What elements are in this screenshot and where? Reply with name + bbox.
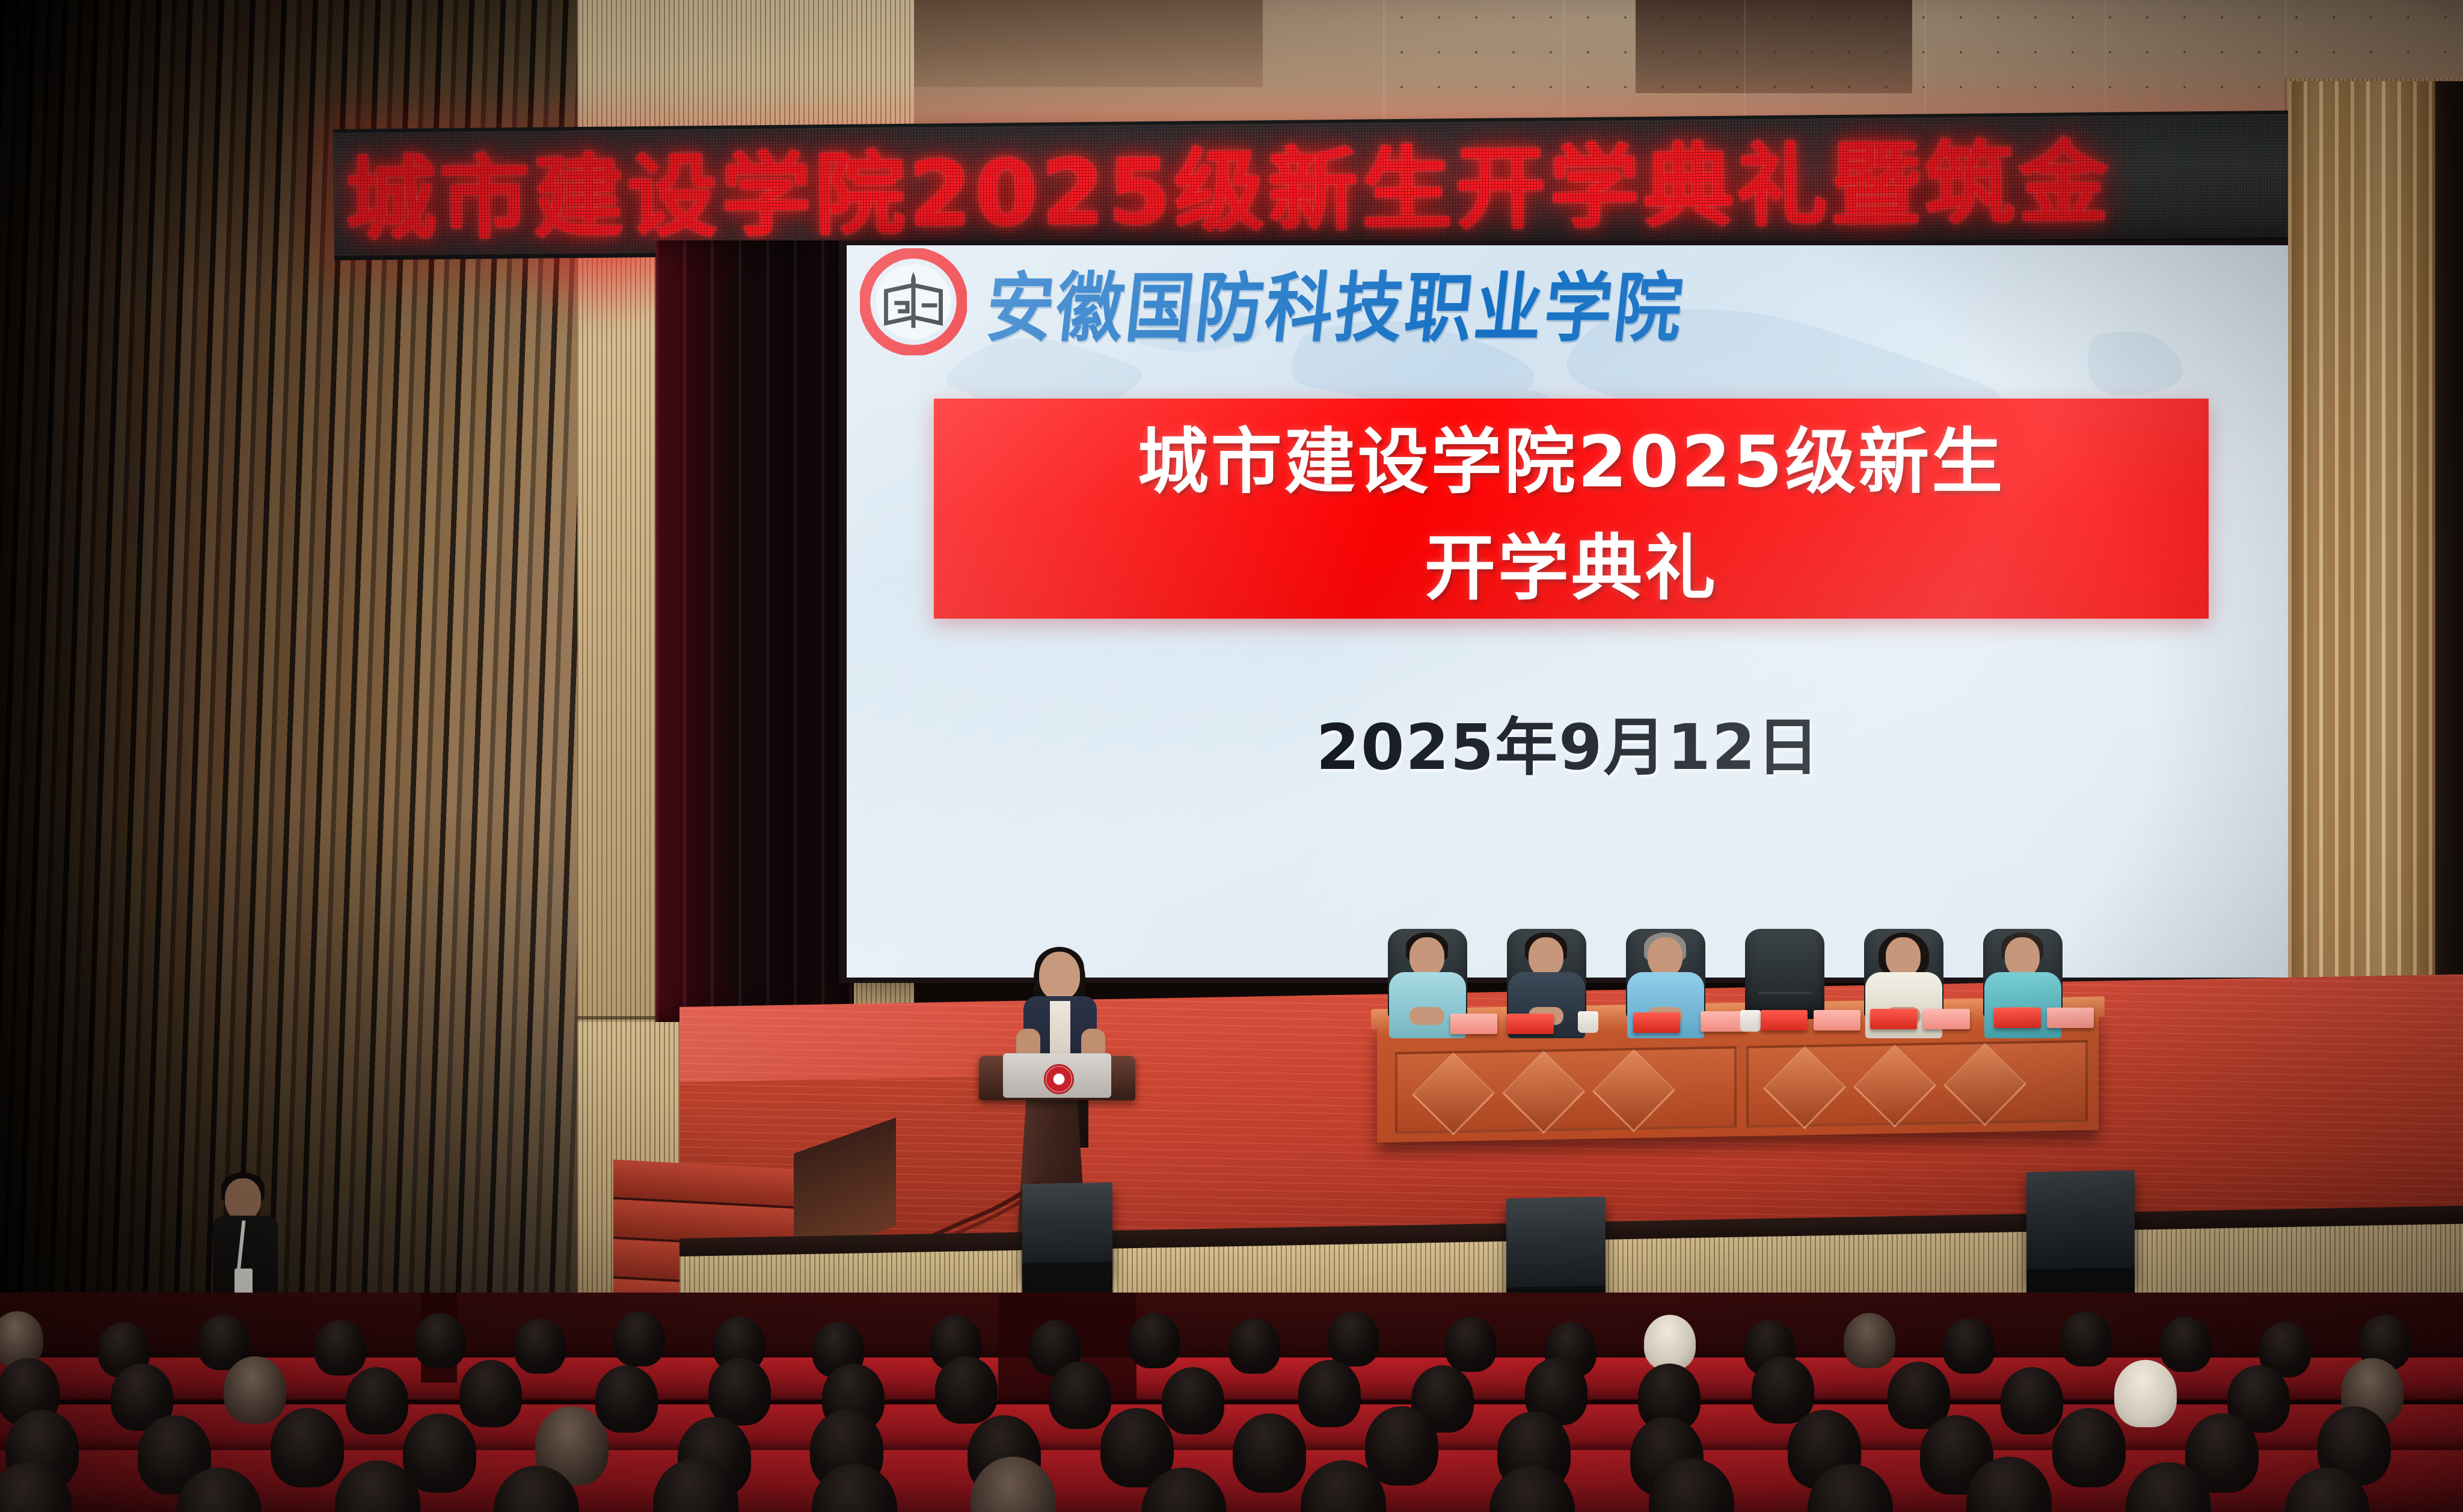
audience-person <box>1844 1313 1895 1368</box>
name-card-6 <box>1814 1010 1860 1030</box>
screen-title-line1: 城市建设学院2025级新生 <box>1138 404 2005 507</box>
audience-person <box>2160 1317 2212 1372</box>
name-card-7 <box>1870 1009 1917 1029</box>
name-card-9 <box>1994 1008 2041 1028</box>
projection-screen: 安徽国防科技职业学院 城市建设学院2025级新生 开学典礼 2025年9月12日 <box>847 245 2290 978</box>
school-name-calligraphy: 安徽国防科技职业学院 <box>981 247 1690 356</box>
audience-person <box>1049 1362 1111 1429</box>
audience-person <box>1752 1356 1814 1424</box>
audience-area <box>0 1293 2463 1512</box>
ceiling-recess-left <box>878 0 1263 87</box>
audience-person <box>1129 1313 1180 1368</box>
audience-person <box>271 1408 344 1487</box>
audience-person <box>1233 1413 1306 1493</box>
name-card-3 <box>1633 1012 1680 1033</box>
head-table-panel-left <box>1395 1046 1737 1134</box>
screen-school-header: 安徽国防科技职业学院 <box>860 245 2279 362</box>
audience-person <box>2001 1367 2063 1434</box>
head-table-panel-right <box>1746 1040 2088 1128</box>
audience-person <box>514 1318 566 1374</box>
auditorium-photo: 城市建设学院2025级新生开学典礼暨筑金 <box>0 0 2463 1512</box>
audience-person <box>459 1360 522 1427</box>
school-crest-icon <box>860 248 967 355</box>
audience-person <box>2060 1311 2112 1367</box>
led-pixel-grid <box>333 112 2463 256</box>
audience-person <box>1365 1406 1438 1486</box>
led-marquee-board: 城市建设学院2025级新生开学典礼暨筑金 <box>333 109 2463 260</box>
head-table-items <box>1383 1005 2105 1041</box>
audience-person <box>346 1367 408 1434</box>
audience-person <box>1644 1315 1696 1370</box>
screen-date: 2025年9月12日 <box>847 696 2290 787</box>
audience-person <box>1943 1318 1995 1374</box>
audience-person <box>414 1313 466 1368</box>
audience-person <box>1228 1318 1280 1374</box>
water-cup-b <box>1740 1010 1761 1032</box>
name-card-8 <box>1923 1009 1970 1029</box>
audience-person <box>2114 1360 2177 1427</box>
audience-person <box>613 1311 665 1367</box>
audience-person <box>1445 1317 1497 1372</box>
screen-title-line2: 开学典礼 <box>1425 510 1718 613</box>
curtain-folds <box>655 240 854 1022</box>
stage-curtain-dark <box>655 240 854 1022</box>
stage-monitor-center <box>1506 1197 1606 1300</box>
audience-person <box>224 1356 286 1424</box>
audience-person <box>1162 1367 1224 1434</box>
name-card-1 <box>1450 1014 1497 1034</box>
audience-person <box>1298 1360 1361 1427</box>
screen-title-band: 城市建设学院2025级新生 开学典礼 <box>934 399 2209 619</box>
audience-person <box>314 1320 366 1376</box>
water-cup-a <box>1578 1011 1598 1033</box>
stage-monitor-left <box>1022 1183 1112 1275</box>
stage-monitor-right <box>2026 1170 2135 1280</box>
curtain-gold-folds <box>2288 81 2438 1067</box>
name-card-2 <box>1507 1014 1554 1034</box>
stage-curtain-far-right <box>2435 81 2463 1103</box>
audience-person <box>1328 1311 1379 1367</box>
audience-person <box>935 1356 998 1424</box>
audience-person <box>2052 1408 2126 1487</box>
lectern-emblem-icon <box>1044 1064 1074 1094</box>
stage-curtain-gold <box>2288 81 2438 1067</box>
name-card-10 <box>2047 1008 2094 1028</box>
audience-person <box>403 1413 476 1493</box>
audience-person <box>595 1365 658 1433</box>
name-card-5 <box>1761 1010 1808 1030</box>
audience-person <box>708 1358 771 1425</box>
